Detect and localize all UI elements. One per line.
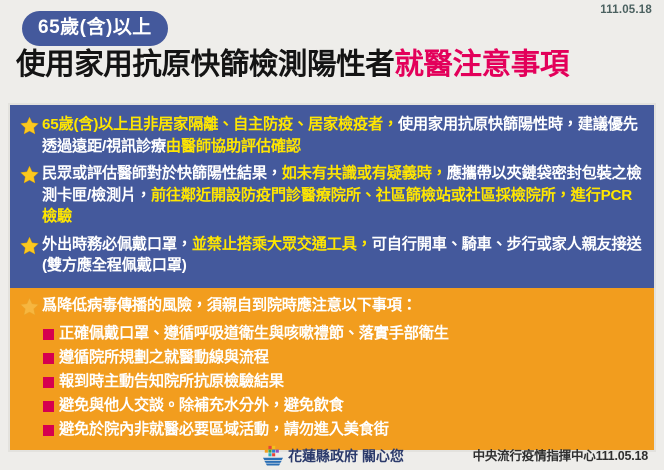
square-bullet-icon [43, 425, 54, 436]
list-item-label: 避免於院內非就醫必要區域活動，請勿進入美食街 [59, 419, 389, 441]
segment-yellow: 如未有共識或有疑義時， [282, 165, 447, 182]
date-stamp: 111.05.18 [600, 4, 652, 16]
page-title: 使用家用抗原快篩檢測陽性者就醫注意事項 [16, 47, 654, 84]
blue-bullet-3-text: 外出時務必佩戴口罩，並禁止搭乘大眾交通工具，可自行開車、騎車、步行或家人親友接送… [42, 234, 646, 277]
list-item-label: 報到時主動告知院所抗原檢驗結果 [59, 371, 284, 393]
square-bullet-icon [43, 377, 54, 388]
star-icon [20, 116, 39, 135]
footer: 花蓮縣政府 關心您 中央流行疫情指揮中心111.05.18 [0, 442, 664, 470]
page-title-primary: 使用家用抗原快篩檢測陽性者 [16, 48, 394, 81]
gov-label: 花蓮縣政府 關心您 [288, 446, 404, 466]
blue-notice-panel: 65歲(含)以上且非居家隔離、自主防疫、居家檢疫者，使用家用抗原快篩陽性時，建議… [8, 103, 656, 288]
list-item: 避免於院內非就醫必要區域活動，請勿進入美食街 [43, 418, 648, 442]
segment-yellow: 65歲(含)以上且非居家隔離、自主防疫、居家檢疫者， [42, 116, 398, 133]
list-item: 正確佩戴口罩、遵循呼吸道衛生與咳嗽禮節、落實手部衛生 [43, 322, 648, 346]
blue-bullet-2: 民眾或評估醫師對於快篩陽性結果，如未有共識或有疑義時，應攜帶以夾鏈袋密封包裝之檢… [16, 161, 648, 232]
list-item: 避免與他人交談。除補充水分外，避免飲食 [43, 394, 648, 418]
star-icon [20, 236, 39, 255]
list-item-label: 正確佩戴口罩、遵循呼吸道衛生與咳嗽禮節、落實手部衛生 [59, 323, 449, 345]
cecc-attribution: 中央流行疫情指揮中心111.05.18 [473, 445, 648, 464]
segment-yellow: 並禁止搭乘大眾交通工具， [192, 236, 372, 253]
orange-lead-bullet: 爲降低病毒傳播的風險，須親自到院時應注意以下事項： [16, 293, 648, 321]
orange-notice-panel: 爲降低病毒傳播的風險，須親自到院時應注意以下事項： 正確佩戴口罩、遵循呼吸道衛生… [8, 288, 656, 452]
age-badge: 65歲(含)以上 [22, 11, 168, 46]
segment-white: 外出時務必佩戴口罩， [42, 236, 192, 253]
gov-branding: 花蓮縣政府 關心您 [262, 445, 404, 466]
orange-lead-text: 爲降低病毒傳播的風險，須親自到院時應注意以下事項： [42, 295, 417, 317]
list-item-label: 遵循院所規劃之就醫動線與流程 [59, 347, 269, 369]
page-title-highlight: 就醫注意事項 [394, 48, 569, 81]
list-item: 遵循院所規劃之就醫動線與流程 [43, 346, 648, 370]
orange-sub-list: 正確佩戴口罩、遵循呼吸道衛生與咳嗽禮節、落實手部衛生 遵循院所規劃之就醫動線與流… [43, 322, 648, 442]
square-bullet-icon [43, 353, 54, 364]
blue-bullet-2-text: 民眾或評估醫師對於快篩陽性結果，如未有共識或有疑義時，應攜帶以夾鏈袋密封包裝之檢… [42, 163, 646, 228]
square-bullet-icon [43, 329, 54, 340]
segment-white: 民眾或評估醫師對於快篩陽性結果， [42, 165, 282, 182]
list-item: 報到時主動告知院所抗原檢驗結果 [43, 370, 648, 394]
square-bullet-icon [43, 401, 54, 412]
segment-yellow: 由醫師協助評估確認 [166, 138, 301, 155]
blue-bullet-1: 65歲(含)以上且非居家隔離、自主防疫、居家檢疫者，使用家用抗原快篩陽性時，建議… [16, 112, 648, 161]
age-badge-container: 65歲(含)以上 [22, 11, 168, 46]
poster-canvas: 111.05.18 65歲(含)以上 使用家用抗原快篩檢測陽性者就醫注意事項 6… [0, 0, 664, 470]
list-item-label: 避免與他人交談。除補充水分外，避免飲食 [59, 395, 344, 417]
blue-bullet-1-text: 65歲(含)以上且非居家隔離、自主防疫、居家檢疫者，使用家用抗原快篩陽性時，建議… [42, 114, 646, 157]
blue-bullet-3: 外出時務必佩戴口罩，並禁止搭乘大眾交通工具，可自行開車、騎車、步行或家人親友接送… [16, 232, 648, 281]
star-icon [20, 165, 39, 184]
hualien-county-government-logo-icon [262, 445, 284, 466]
star-icon [20, 297, 39, 316]
